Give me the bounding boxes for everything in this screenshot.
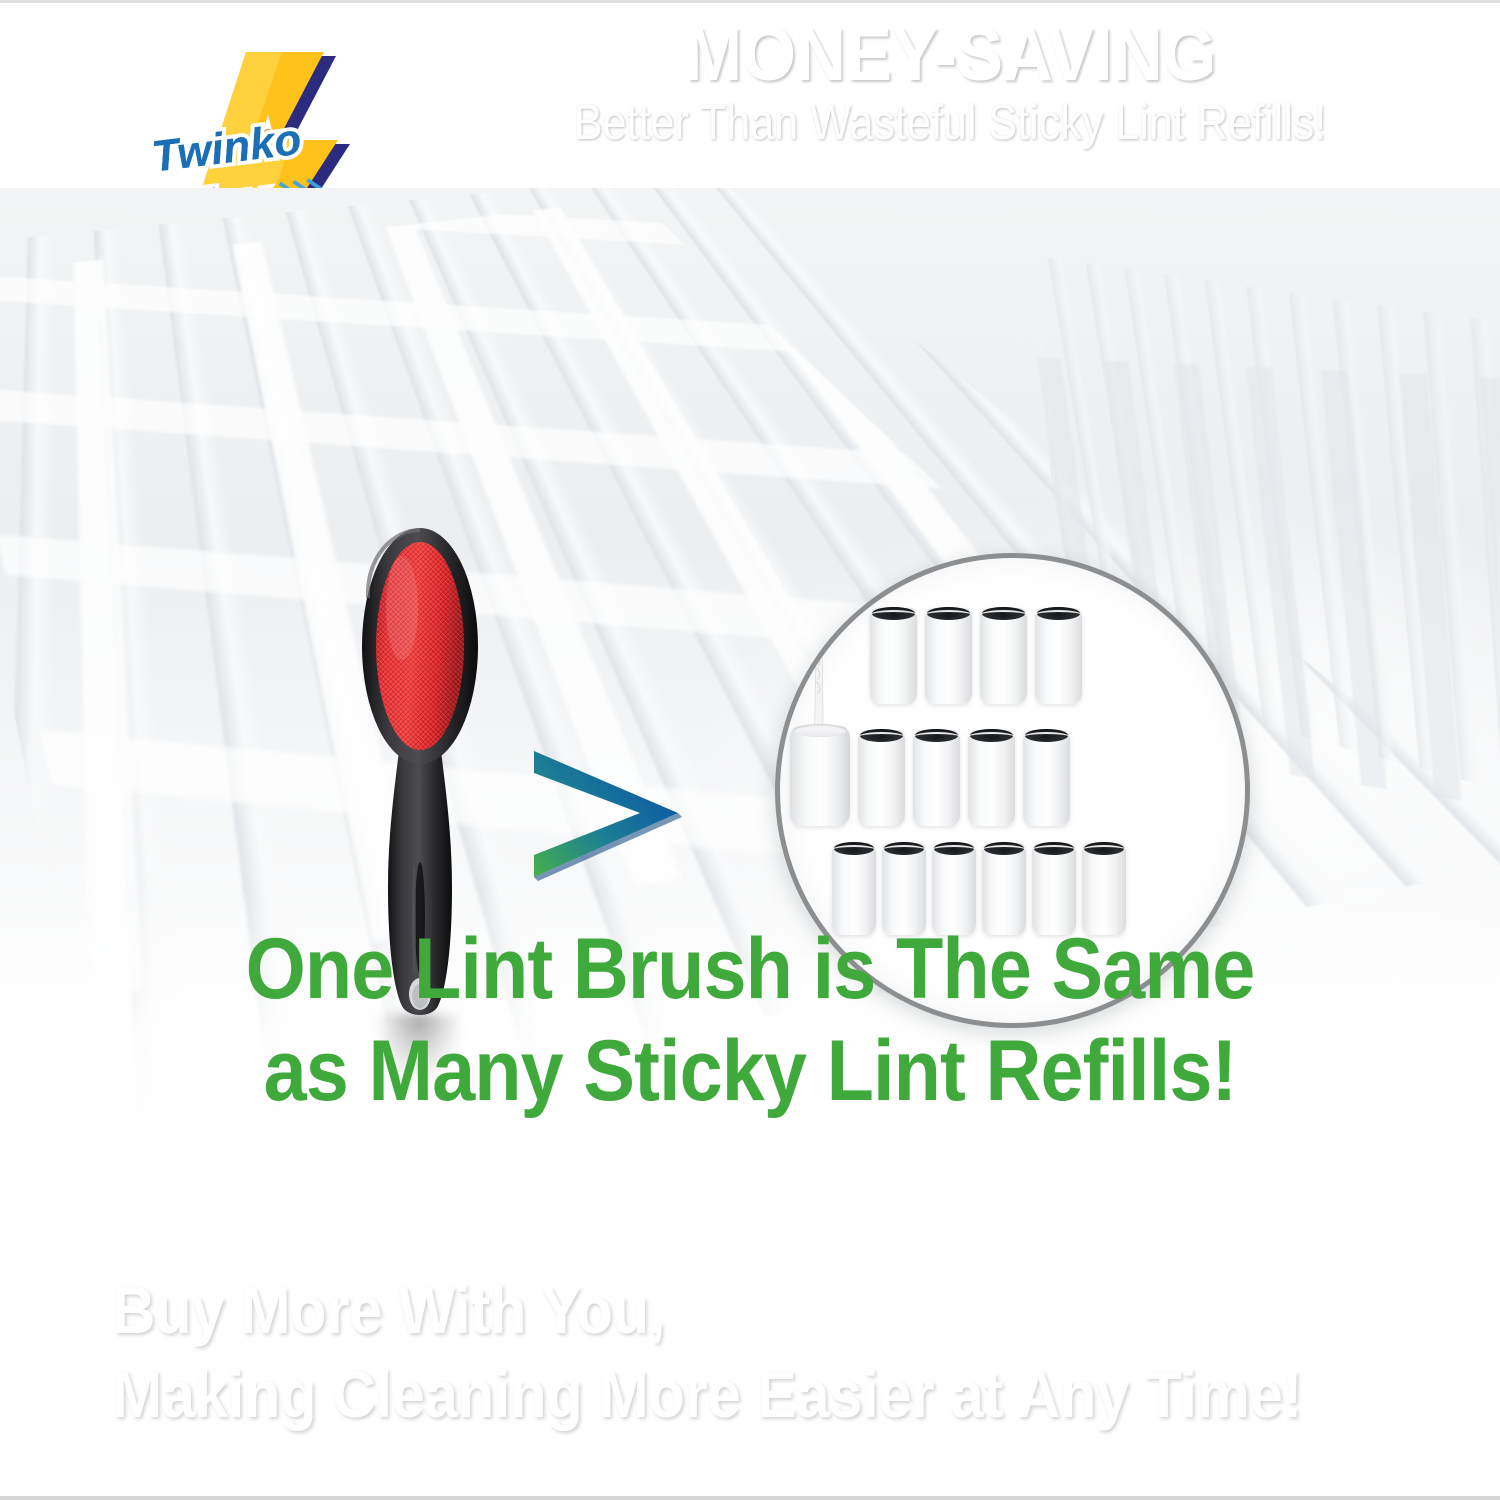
sticky-lint-refill-roll (980, 608, 1027, 704)
headline: One Lint Brush is The Same as Many Stick… (210, 918, 1290, 1122)
header-title: MONEY-SAVING (457, 14, 1443, 94)
sticky-lint-refill-roll (1035, 608, 1082, 704)
sticky-lint-refill-roll (858, 730, 905, 826)
sticky-lint-refill-roll (870, 608, 917, 704)
greater-than-symbol (528, 743, 718, 891)
footer-line-2: Making Cleaning More Easier at Any Time! (112, 1352, 1302, 1436)
product-feature-image: Twinko Twinko Max Max MONEY-SAVING Bette… (0, 0, 1500, 1500)
footer-text: Buy More With You, Making Cleaning More … (112, 1268, 1302, 1436)
sticky-lint-refill-roll (1023, 730, 1070, 826)
lint-roller-with-handle (790, 718, 850, 826)
roller-body (790, 726, 850, 826)
headline-line-2: as Many Sticky Lint Refills! (210, 1020, 1290, 1122)
sticky-lint-refill-roll (925, 608, 972, 704)
sticky-lint-refill-roll (913, 730, 960, 826)
sticky-lint-refill-roll (968, 730, 1015, 826)
footer-line-1: Buy More With You, (112, 1268, 1302, 1352)
headline-line-1: One Lint Brush is The Same (210, 918, 1290, 1020)
refill-row (870, 608, 1082, 704)
header-subtitle: Better Than Wasteful Sticky Lint Refills… (484, 96, 1417, 150)
roller-handle (812, 568, 829, 736)
refill-row (790, 718, 1070, 826)
